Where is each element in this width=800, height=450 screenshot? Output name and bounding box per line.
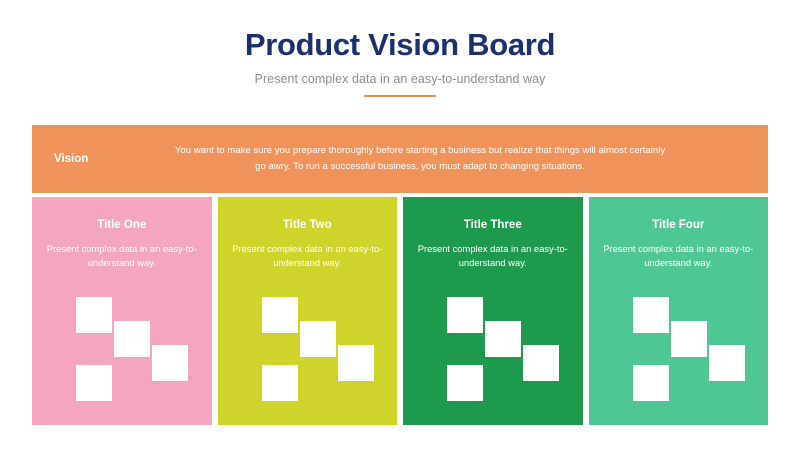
columns-row: Title One Present complex data in an eas… — [32, 197, 768, 425]
placeholder-square — [633, 365, 669, 401]
placeholder-square — [523, 345, 559, 381]
placeholder-square — [633, 297, 669, 333]
column-3-title: Title Three — [417, 219, 569, 233]
placeholder-square — [447, 297, 483, 333]
column-2-header: Title Two Present complex data in an eas… — [218, 197, 398, 271]
column-card-3[interactable]: Title Three Present complex data in an e… — [403, 197, 583, 425]
column-2-title: Title Two — [232, 219, 384, 233]
placeholder-square — [300, 321, 336, 357]
vision-text: You want to make sure you prepare thorou… — [172, 143, 768, 174]
page-subtitle: Present complex data in an easy-to-under… — [0, 72, 800, 86]
column-card-2[interactable]: Title Two Present complex data in an eas… — [218, 197, 398, 425]
column-3-body: Present complex data in an easy-to-under… — [417, 242, 569, 271]
column-4-header: Title Four Present complex data in an ea… — [589, 197, 769, 271]
placeholder-square — [338, 345, 374, 381]
column-card-1[interactable]: Title One Present complex data in an eas… — [32, 197, 212, 425]
placeholder-square — [709, 345, 745, 381]
placeholder-square — [262, 365, 298, 401]
slide-header: Product Vision Board Present complex dat… — [0, 28, 800, 97]
column-card-4[interactable]: Title Four Present complex data in an ea… — [589, 197, 769, 425]
placeholder-square — [76, 297, 112, 333]
placeholder-square — [76, 365, 112, 401]
vision-banner: Vision You want to make sure you prepare… — [32, 125, 768, 193]
page-title: Product Vision Board — [0, 28, 800, 63]
column-1-header: Title One Present complex data in an eas… — [32, 197, 212, 271]
column-2-body: Present complex data in an easy-to-under… — [232, 242, 384, 271]
placeholder-square — [114, 321, 150, 357]
slide-canvas: Product Vision Board Present complex dat… — [0, 0, 800, 450]
column-1-title: Title One — [46, 219, 198, 233]
column-3-header: Title Three Present complex data in an e… — [403, 197, 583, 271]
column-1-body: Present complex data in an easy-to-under… — [46, 242, 198, 271]
title-accent-rule — [364, 95, 436, 98]
column-4-body: Present complex data in an easy-to-under… — [603, 242, 755, 271]
placeholder-square — [671, 321, 707, 357]
placeholder-square — [447, 365, 483, 401]
placeholder-square — [262, 297, 298, 333]
placeholder-square — [485, 321, 521, 357]
placeholder-square — [152, 345, 188, 381]
column-4-title: Title Four — [603, 219, 755, 233]
vision-label: Vision — [32, 153, 172, 165]
